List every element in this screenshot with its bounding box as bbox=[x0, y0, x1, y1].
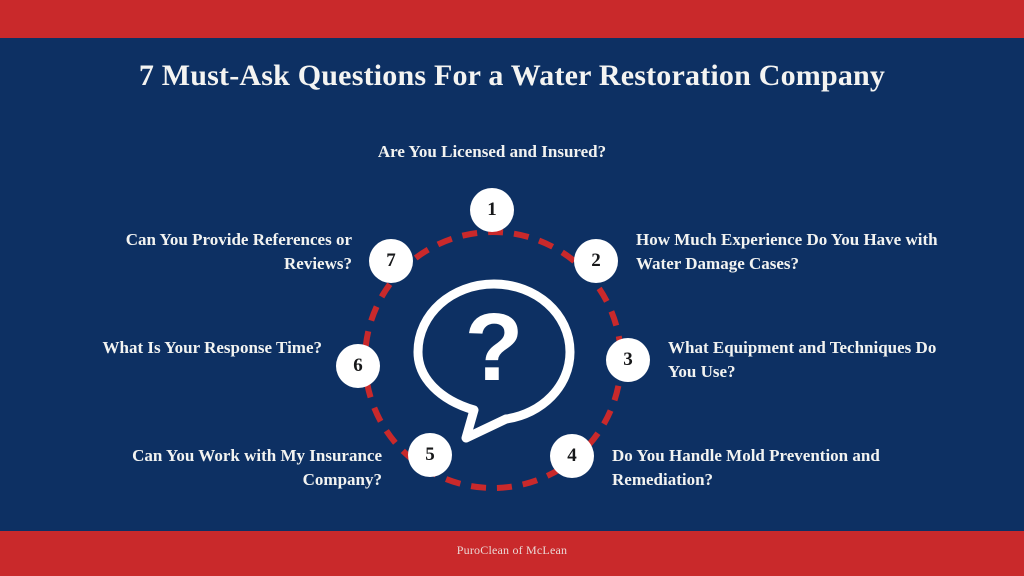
step-node-4[interactable]: 4 bbox=[550, 434, 594, 478]
step-label-1: Are You Licensed and Insured? bbox=[292, 140, 692, 164]
infographic-slide: 7 Must-Ask Questions For a Water Restora… bbox=[0, 0, 1024, 576]
step-node-7[interactable]: 7 bbox=[369, 239, 413, 283]
step-number: 7 bbox=[386, 250, 396, 272]
speech-bubble-question-icon: ? bbox=[404, 268, 584, 448]
step-label-2: How Much Experience Do You Have with Wat… bbox=[636, 228, 946, 276]
step-number: 5 bbox=[425, 444, 435, 466]
page-title: 7 Must-Ask Questions For a Water Restora… bbox=[0, 59, 1024, 93]
step-node-1[interactable]: 1 bbox=[470, 188, 514, 232]
step-number: 1 bbox=[487, 199, 497, 221]
step-node-5[interactable]: 5 bbox=[408, 433, 452, 477]
step-number: 4 bbox=[567, 445, 577, 467]
step-number: 6 bbox=[353, 355, 363, 377]
svg-text:?: ? bbox=[465, 294, 524, 401]
top-accent-bar bbox=[0, 0, 1024, 38]
step-number: 2 bbox=[591, 250, 601, 272]
step-label-5: Can You Work with My Insurance Company? bbox=[118, 444, 382, 492]
footer-brand: PuroClean of McLean bbox=[0, 543, 1024, 558]
step-node-6[interactable]: 6 bbox=[336, 344, 380, 388]
step-label-7: Can You Provide References or Reviews? bbox=[96, 228, 352, 276]
step-node-3[interactable]: 3 bbox=[606, 338, 650, 382]
step-label-6: What Is Your Response Time? bbox=[72, 336, 322, 360]
step-label-4: Do You Handle Mold Prevention and Remedi… bbox=[612, 444, 912, 492]
step-number: 3 bbox=[623, 349, 633, 371]
step-node-2[interactable]: 2 bbox=[574, 239, 618, 283]
step-label-3: What Equipment and Techniques Do You Use… bbox=[668, 336, 948, 384]
